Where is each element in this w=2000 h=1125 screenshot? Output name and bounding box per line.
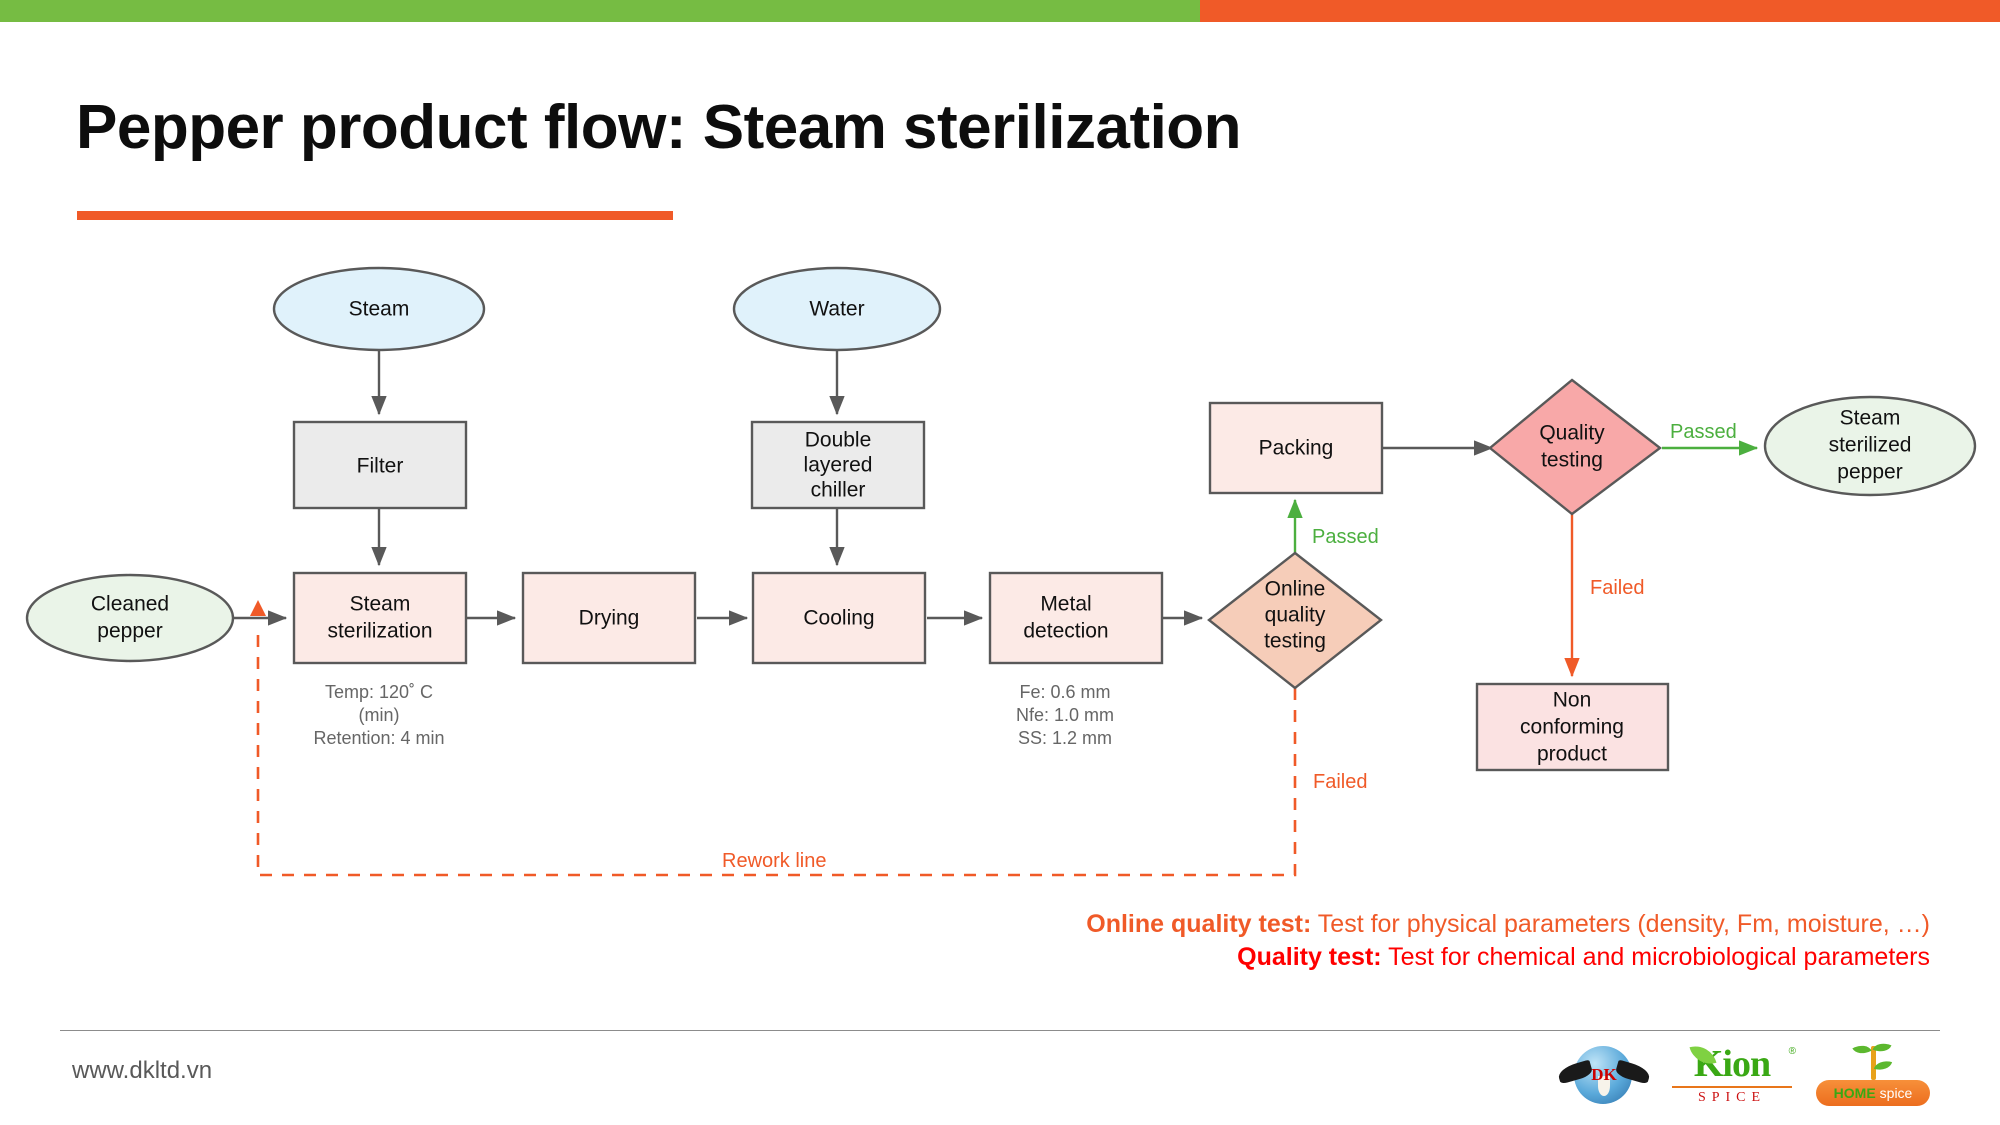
node-online-quality-label-1: Online (1265, 578, 1326, 601)
edge-label-online-failed: Failed (1313, 771, 1367, 793)
node-non-conforming-label-1: Non (1553, 689, 1592, 712)
edge-label-quality-passed: Passed (1670, 421, 1737, 443)
connector-rework-line (258, 630, 1295, 875)
node-metal-detection-label-1: Metal (1040, 593, 1091, 616)
edge-label-rework-line: Rework line (722, 850, 826, 872)
node-drying[interactable]: Drying (523, 573, 695, 663)
legend-line-2-bold: Quality test: (1237, 943, 1381, 971)
edge-label-quality-failed: Failed (1590, 577, 1644, 599)
plant-leaf-1-icon (1852, 1041, 1871, 1058)
param-metal-nfe: Nfe: 1.0 mm (1016, 705, 1114, 725)
kion-logo-subword: SPICE (1664, 1090, 1800, 1106)
kion-underline (1672, 1086, 1792, 1088)
node-quality-testing[interactable]: Quality testing (1490, 380, 1660, 514)
legend-line-quality-test: Quality test: Test for chemical and micr… (900, 941, 1930, 974)
node-cleaned-pepper-label-1: Cleaned (91, 593, 169, 616)
node-non-conforming-product[interactable]: Non conforming product (1477, 684, 1668, 770)
legend-block: Online quality test: Test for physical p… (900, 908, 1930, 974)
legend-line-1-bold: Online quality test: (1086, 910, 1311, 938)
node-chiller-label-2: layered (804, 454, 873, 477)
plant-stem-icon (1871, 1046, 1876, 1080)
legend-line-1-rest: Test for physical parameters (density, F… (1311, 910, 1930, 938)
node-metal-detection-label-2: detection (1023, 620, 1108, 643)
node-steam[interactable]: Steam (274, 268, 484, 350)
plant-icon (1858, 1040, 1888, 1080)
plant-leaf-3-icon (1874, 1058, 1892, 1073)
legend-line-2-rest: Test for chemical and microbiological pa… (1382, 943, 1930, 971)
node-chiller-label-3: chiller (811, 479, 866, 502)
node-cooling[interactable]: Cooling (753, 573, 925, 663)
home-spice-ribbon: HOME spice (1816, 1080, 1930, 1106)
node-output-label-3: pepper (1837, 461, 1902, 484)
legend-line-online-quality-test: Online quality test: Test for physical p… (900, 908, 1930, 941)
home-logo-word: HOME (1834, 1085, 1876, 1101)
node-steam-sterilization-label-2: sterilization (327, 620, 432, 643)
node-output-label-1: Steam (1840, 407, 1901, 430)
node-double-layered-chiller[interactable]: Double layered chiller (752, 422, 924, 508)
node-quality-testing-label-1: Quality (1539, 422, 1605, 445)
node-chiller-label-1: Double (805, 429, 872, 452)
annotation-sterilization-params: Temp: 120˚ C (min) Retention: 4 min (313, 682, 444, 748)
footer-divider (60, 1030, 1940, 1031)
node-cleaned-pepper[interactable]: Cleaned pepper (27, 575, 233, 661)
param-sterilization-retention: Retention: 4 min (313, 728, 444, 748)
node-steam-sterilization[interactable]: Steam sterilization (294, 573, 466, 663)
node-non-conforming-label-3: product (1537, 743, 1607, 766)
node-quality-testing-label-2: testing (1541, 449, 1603, 472)
slide-canvas: Pepper product flow: Steam sterilization (0, 0, 2000, 1125)
home-logo-subword: spice (1880, 1085, 1913, 1101)
node-packing-label: Packing (1259, 437, 1334, 460)
registered-mark-icon: ® (1789, 1046, 1796, 1057)
param-sterilization-temp: Temp: 120˚ C (325, 682, 433, 702)
kion-logo-word: Kion (1664, 1042, 1800, 1086)
annotation-metal-detection-params: Fe: 0.6 mm Nfe: 1.0 mm SS: 1.2 mm (1016, 682, 1114, 748)
edge-label-online-passed: Passed (1312, 526, 1379, 548)
param-metal-ss: SS: 1.2 mm (1018, 728, 1112, 748)
node-steam-sterilized-pepper[interactable]: Steam sterilized pepper (1765, 397, 1975, 495)
footer-logo-group: DK Kion ® SPICE HOME spice (1558, 1038, 1938, 1112)
node-online-quality-label-3: testing (1264, 630, 1326, 653)
param-sterilization-min: (min) (359, 705, 400, 725)
kion-spice-logo: Kion ® SPICE (1664, 1040, 1800, 1110)
node-online-quality-testing[interactable]: Online quality testing (1209, 553, 1381, 688)
node-cooling-label: Cooling (803, 607, 874, 630)
home-spice-logo: HOME spice (1814, 1040, 1932, 1110)
dk-logo-text: DK (1558, 1040, 1650, 1110)
node-filter[interactable]: Filter (294, 422, 466, 508)
node-water-label: Water (809, 298, 864, 321)
node-metal-detection[interactable]: Metal detection (990, 573, 1162, 663)
node-output-label-2: sterilized (1829, 434, 1912, 457)
node-drying-label: Drying (579, 607, 640, 630)
node-non-conforming-label-2: conforming (1520, 716, 1624, 739)
param-metal-fe: Fe: 0.6 mm (1019, 682, 1110, 702)
footer-website-url: www.dkltd.vn (72, 1057, 212, 1085)
dk-logo: DK (1558, 1040, 1650, 1110)
node-filter-label: Filter (357, 455, 404, 478)
node-cleaned-pepper-label-2: pepper (97, 620, 162, 643)
node-steam-sterilization-label-1: Steam (350, 593, 411, 616)
node-packing[interactable]: Packing (1210, 403, 1382, 493)
node-steam-label: Steam (349, 298, 410, 321)
rework-arrowhead (250, 600, 266, 616)
node-water[interactable]: Water (734, 268, 940, 350)
node-online-quality-label-2: quality (1265, 604, 1326, 627)
